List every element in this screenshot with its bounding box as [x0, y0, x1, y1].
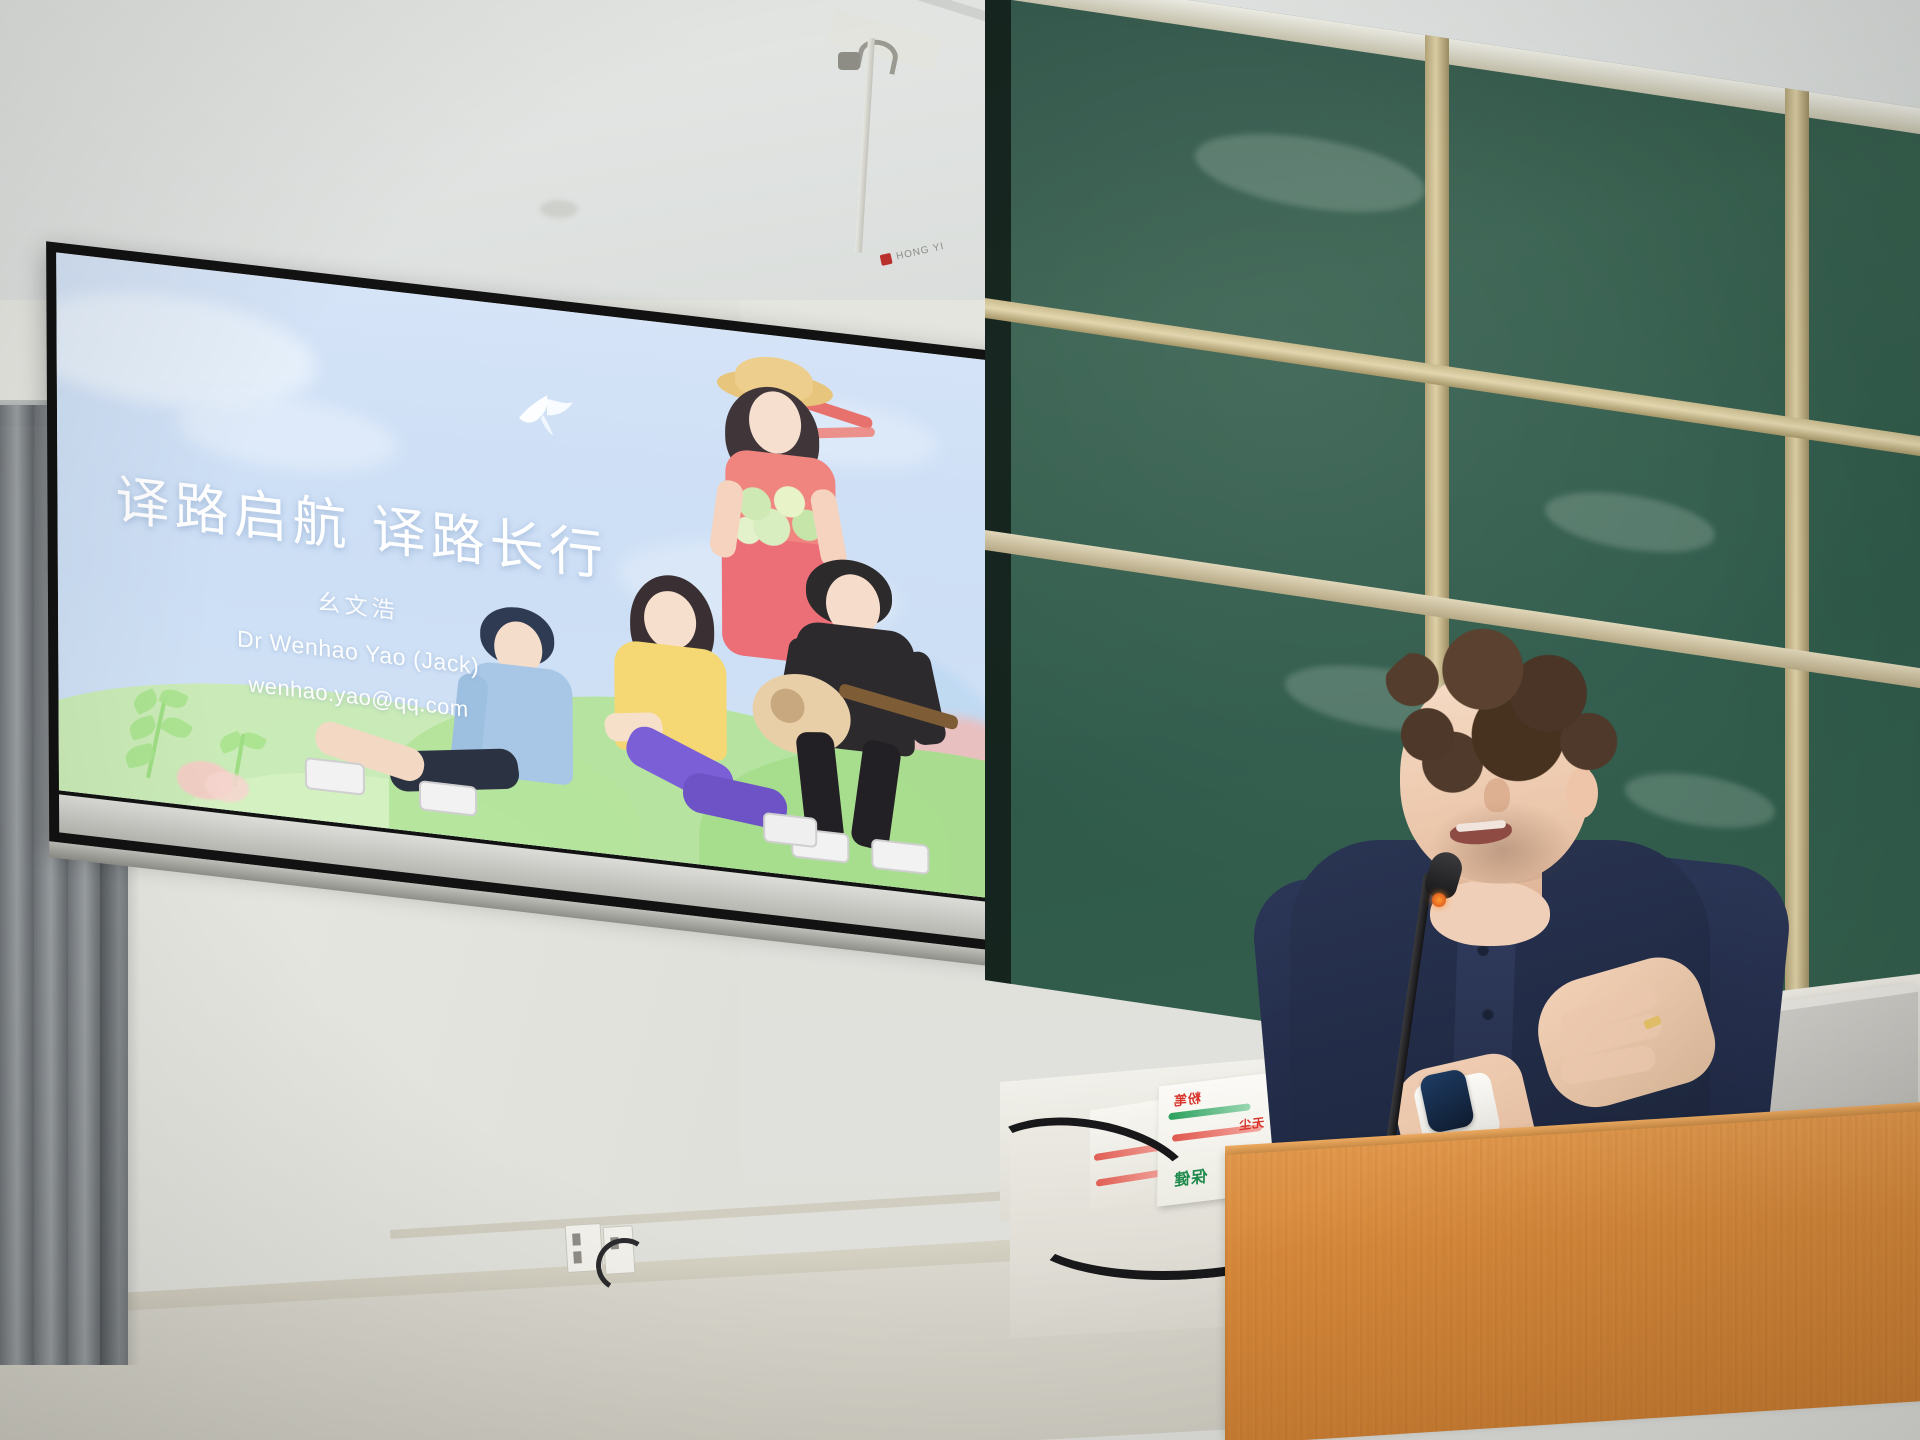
lecture-room-photo: HONG YI — [0, 0, 1920, 1440]
flying-white-bird-icon — [513, 389, 583, 441]
microphone-power-led — [1432, 893, 1446, 907]
shirt-button — [1482, 1008, 1494, 1020]
ceiling-mount-clip — [838, 52, 860, 70]
curly-hair — [1372, 628, 1624, 800]
projection-screen: 译路启航 译路长行 幺文浩 Dr Wenhao Yao (Jack) wenha… — [46, 241, 1065, 959]
ceiling-fixture — [540, 200, 578, 218]
wooden-lectern — [1225, 1107, 1920, 1440]
chalkboard-vertical-divider — [1785, 88, 1809, 1102]
chalk-box-text-small: 无尘 — [1238, 1114, 1264, 1134]
outlet-slot — [572, 1233, 581, 1245]
brand-mark-icon — [880, 253, 893, 266]
chalk-box-text-red: 粉笔 — [1173, 1087, 1201, 1109]
chalkboard-left-edge — [985, 0, 1011, 984]
outlet-slot — [573, 1251, 582, 1263]
projection-surface: 译路启航 译路长行 幺文浩 Dr Wenhao Yao (Jack) wenha… — [56, 252, 1054, 905]
presentation-slide: 译路启航 译路长行 幺文浩 Dr Wenhao Yao (Jack) wenha… — [56, 252, 1054, 905]
